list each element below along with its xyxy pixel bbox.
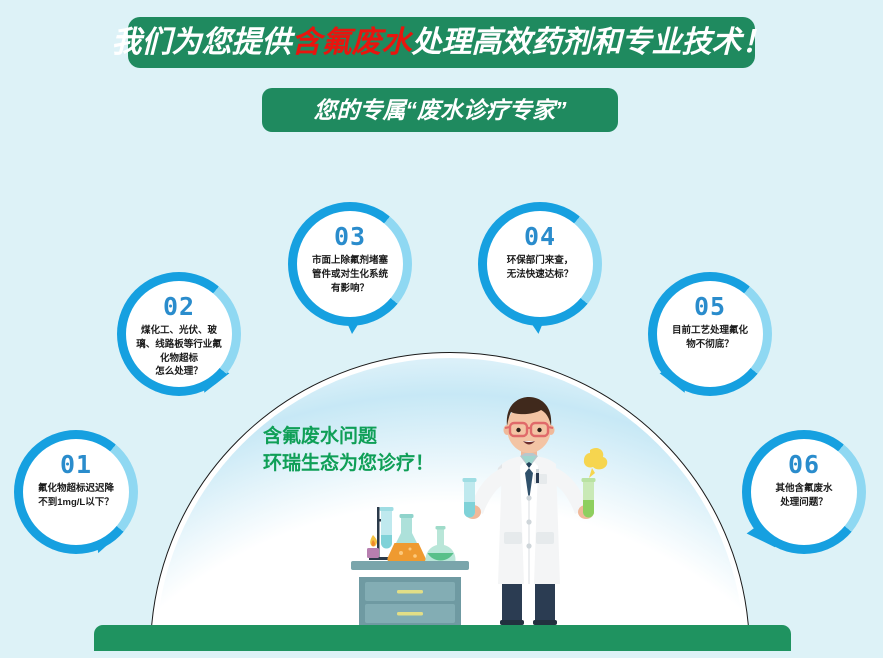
bubble-number: 03 <box>334 224 366 249</box>
bubble-core: 04 环保部门来查，无法快速达标？ <box>487 211 593 317</box>
question-bubble-06[interactable]: 06 其他含氟废水处理问题？ <box>742 430 866 554</box>
bubble-core: 03 市面上除氟剂堵塞管件或对生化系统有影响？ <box>297 211 403 317</box>
bubble-core: 06 其他含氟废水处理问题？ <box>751 439 857 545</box>
bubble-text: 其他含氟废水处理问题？ <box>756 482 852 510</box>
question-bubble-01[interactable]: 01 氟化物超标迟迟降不到1mg/L以下？ <box>14 430 138 554</box>
center-message: 含氟废水问题 环瑞生态为您诊疗！ <box>263 424 493 478</box>
sub-title-text: 您的专属“废水诊疗专家” <box>314 99 567 122</box>
question-bubble-04[interactable]: 04 环保部门来查，无法快速达标？ <box>478 202 602 326</box>
bubble-core: 05 目前工艺处理氟化物不彻底？ <box>657 281 763 387</box>
bubble-number: 05 <box>694 294 726 319</box>
bubble-number: 01 <box>60 452 92 477</box>
main-title-banner: 我们为您提供含氟废水处理高效药剂和专业技术！ <box>128 17 755 68</box>
bubble-text: 目前工艺处理氟化物不彻底？ <box>660 324 760 352</box>
bubble-core: 02 煤化工、光伏、玻璃、线路板等行业氟化物超标怎么处理？ <box>126 281 232 387</box>
bubble-number: 06 <box>788 452 820 477</box>
bubble-core: 01 氟化物超标迟迟降不到1mg/L以下？ <box>23 439 129 545</box>
main-title-text: 我们为您提供含氟废水处理高效药剂和专业技术！ <box>112 28 772 58</box>
center-message-line1: 含氟废水问题 <box>263 424 493 451</box>
main-title-before: 我们为您提供 <box>112 26 292 59</box>
sub-title-banner: 您的专属“废水诊疗专家” <box>262 88 618 132</box>
question-bubble-02[interactable]: 02 煤化工、光伏、玻璃、线路板等行业氟化物超标怎么处理？ <box>117 272 241 396</box>
poster-canvas: 我们为您提供含氟废水处理高效药剂和专业技术！ 您的专属“废水诊疗专家” <box>0 0 883 658</box>
bubble-text: 氟化物超标迟迟降不到1mg/L以下？ <box>28 482 124 510</box>
bubble-number: 04 <box>524 224 556 249</box>
center-message-line2: 环瑞生态为您诊疗！ <box>263 451 493 478</box>
bubble-text: 环保部门来查，无法快速达标？ <box>492 254 588 282</box>
bubble-text: 煤化工、光伏、玻璃、线路板等行业氟化物超标怎么处理？ <box>129 324 229 379</box>
bubble-text: 市面上除氟剂堵塞管件或对生化系统有影响？ <box>300 254 400 295</box>
main-title-highlight: 含氟废水 <box>292 26 412 59</box>
bottom-green-bar <box>94 625 791 651</box>
bubble-number: 02 <box>163 294 195 319</box>
question-bubble-05[interactable]: 05 目前工艺处理氟化物不彻底？ <box>648 272 772 396</box>
main-title-after: 处理高效药剂和专业技术！ <box>412 26 772 59</box>
question-bubble-03[interactable]: 03 市面上除氟剂堵塞管件或对生化系统有影响？ <box>288 202 412 326</box>
